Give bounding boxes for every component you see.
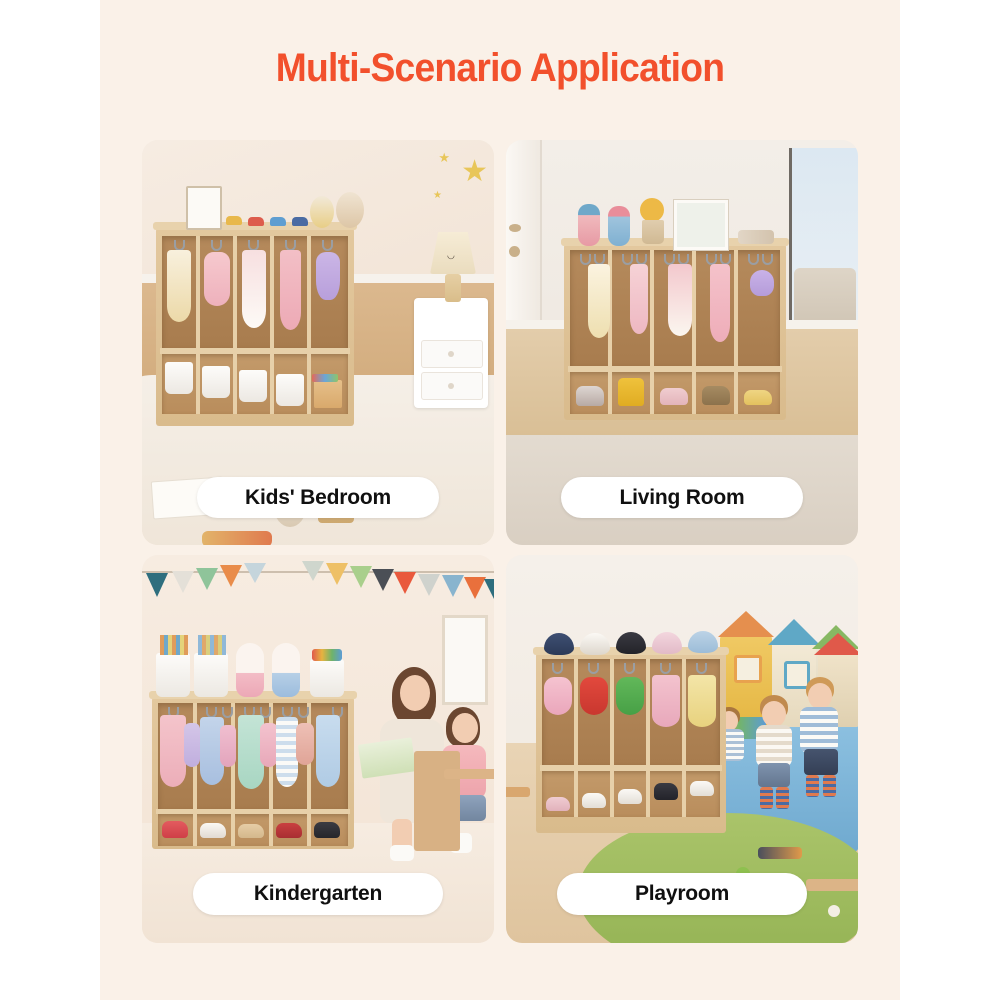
child-shirt-striped-1 bbox=[756, 725, 792, 767]
marketing-image: Multi-Scenario Application ★ ★ ★ bbox=[0, 0, 1000, 1000]
storage-bin-books-2 bbox=[194, 653, 228, 697]
doll-blue-hat bbox=[578, 204, 600, 246]
coat-locker-product bbox=[536, 653, 726, 833]
lower-divider-3 bbox=[270, 354, 274, 414]
brown-shoes bbox=[702, 386, 730, 405]
coat-hook-3 bbox=[622, 254, 633, 265]
scenario-grid: ★ ★ ★ ◡ bbox=[142, 140, 858, 943]
coat-hook-7 bbox=[298, 707, 309, 718]
pink-slippers bbox=[660, 388, 688, 405]
coat-hook-5 bbox=[696, 663, 707, 674]
tan-mary-janes bbox=[238, 824, 264, 838]
lower-divider-3 bbox=[646, 771, 650, 817]
coat-hook-3 bbox=[222, 707, 233, 718]
toy-car-red bbox=[248, 217, 264, 226]
wooden-stool bbox=[506, 787, 530, 797]
bunting-flag-4 bbox=[220, 565, 242, 587]
child-blue-stripes-standing bbox=[794, 677, 846, 807]
lower-divider-2 bbox=[610, 771, 614, 817]
lower-divider-3 bbox=[692, 372, 696, 414]
card-label-text: Kindergarten bbox=[254, 882, 382, 906]
pink-apron bbox=[630, 264, 648, 334]
wooden-child-chair bbox=[414, 751, 460, 851]
bunting-flag-13 bbox=[464, 577, 486, 599]
lamp-smiley-face: ◡ bbox=[447, 250, 455, 261]
cubby-divider-1 bbox=[196, 236, 200, 348]
green-dinosaur-backpack bbox=[616, 677, 644, 715]
child-shorts-2 bbox=[804, 749, 838, 775]
wooden-table-right bbox=[806, 879, 858, 891]
cubby-divider-4 bbox=[307, 236, 311, 348]
coat-hook-2 bbox=[588, 663, 599, 674]
pink-jacket bbox=[160, 715, 186, 787]
drawer-knob-top bbox=[448, 351, 454, 357]
bunting-flag-5 bbox=[244, 563, 266, 583]
pink-jacket bbox=[652, 675, 680, 727]
card-label-pill-playroom[interactable]: Playroom bbox=[557, 873, 807, 915]
bunting-flag-1 bbox=[146, 573, 168, 597]
black-high-tops bbox=[654, 783, 678, 800]
child-shirt-striped-2 bbox=[800, 707, 838, 753]
card-label-pill-kindergarten[interactable]: Kindergarten bbox=[193, 873, 443, 915]
white-sneakers bbox=[200, 823, 226, 838]
white-sneakers-1 bbox=[582, 793, 606, 808]
lower-divider-4 bbox=[307, 354, 311, 414]
lower-divider-3 bbox=[269, 814, 273, 846]
unicorn-backpack-pink bbox=[544, 677, 572, 715]
flower-pot bbox=[642, 220, 664, 244]
pink-backpack bbox=[204, 252, 230, 306]
pink-scarf-plush bbox=[710, 264, 730, 342]
card-label-pill-kids-bedroom[interactable]: Kids' Bedroom bbox=[197, 477, 439, 518]
framed-landscape-photo bbox=[674, 200, 728, 250]
lower-divider-1 bbox=[196, 354, 200, 414]
lower-divider-4 bbox=[307, 814, 311, 846]
child-head-1 bbox=[762, 701, 786, 727]
toy-cars-bottom bbox=[202, 531, 272, 545]
lower-divider-1 bbox=[608, 372, 612, 414]
child-shorts-1 bbox=[758, 763, 790, 787]
coat-hook-1 bbox=[552, 663, 563, 674]
lower-divider-2 bbox=[650, 372, 654, 414]
toy-cars-on-rug bbox=[758, 847, 802, 859]
small-figurines bbox=[738, 230, 774, 244]
pink-backpack-2 bbox=[220, 725, 236, 767]
lilac-backpack bbox=[184, 723, 200, 767]
toy-bin-vehicles bbox=[239, 370, 267, 402]
cubby-divider-2 bbox=[233, 236, 237, 348]
cubby-divider-3 bbox=[270, 236, 274, 348]
plush-bunny-blue bbox=[272, 643, 300, 697]
bunting-flag-8 bbox=[350, 566, 372, 588]
wooden-table bbox=[444, 769, 494, 779]
coat-locker-product bbox=[152, 697, 354, 849]
blue-cloud-towel bbox=[316, 715, 340, 787]
books-in-bin-2 bbox=[198, 635, 226, 655]
child-head-2 bbox=[808, 683, 832, 709]
pink-shoes bbox=[546, 797, 570, 811]
purple-hoodie bbox=[316, 252, 340, 300]
card-label-text: Living Room bbox=[620, 486, 745, 510]
picture-frame-on-top bbox=[186, 186, 222, 230]
purple-bucket-hat bbox=[750, 270, 774, 296]
toy-blocks-colorful bbox=[312, 374, 338, 382]
teacher-head bbox=[400, 675, 430, 711]
child-sock-striped-1 bbox=[760, 787, 773, 809]
coat-hook-5 bbox=[322, 240, 333, 251]
teacher-sock bbox=[390, 845, 414, 861]
bunting-flag-12 bbox=[442, 575, 464, 597]
white-sneakers-2 bbox=[618, 789, 642, 804]
pink-rolled-blanket bbox=[280, 250, 301, 330]
card-label-pill-living-room[interactable]: Living Room bbox=[561, 477, 803, 518]
lower-divider-1 bbox=[574, 771, 578, 817]
yellow-jacket bbox=[688, 675, 716, 727]
plush-bunny-pink bbox=[236, 643, 264, 697]
books-in-bin-1 bbox=[160, 635, 188, 655]
door-lock bbox=[509, 246, 520, 257]
yellow-sandals bbox=[744, 390, 772, 405]
lamp-base bbox=[445, 274, 461, 302]
child-head bbox=[452, 713, 478, 743]
cubby-divider-3 bbox=[692, 250, 696, 366]
bunting-flag-6 bbox=[302, 561, 324, 581]
black-sneakers bbox=[314, 822, 340, 838]
coat-hook-3 bbox=[624, 663, 635, 674]
white-pink-jacket bbox=[668, 264, 692, 336]
coat-hook-9 bbox=[748, 254, 759, 265]
lower-divider-2 bbox=[231, 814, 235, 846]
lower-divider-4 bbox=[682, 771, 686, 817]
bunting-flag-10 bbox=[394, 572, 416, 594]
plush-duck bbox=[310, 196, 334, 228]
playhouse-window-yellow bbox=[734, 655, 762, 683]
coat-hook-1 bbox=[580, 254, 591, 265]
cubby-divider-2 bbox=[650, 250, 654, 366]
cubby-divider-3 bbox=[646, 659, 650, 765]
striped-jacket bbox=[276, 717, 298, 787]
plush-bear-on-top bbox=[336, 192, 364, 228]
cubby-divider-4 bbox=[682, 659, 686, 765]
toy-bin-blocks bbox=[165, 362, 193, 394]
gold-star-decal-small: ★ bbox=[438, 150, 450, 166]
toy-bin-cars bbox=[202, 366, 230, 398]
coat-locker-product bbox=[564, 244, 786, 420]
lower-divider-1 bbox=[193, 814, 197, 846]
toy-car-blue bbox=[270, 217, 286, 226]
yellow-floral-towel bbox=[167, 250, 191, 322]
toy-car-navy bbox=[292, 217, 308, 226]
grey-sneakers bbox=[576, 386, 604, 406]
bunting-flag-7 bbox=[326, 563, 348, 585]
white-nightstand bbox=[414, 298, 488, 408]
pink-backpack-3 bbox=[296, 723, 314, 765]
blocks-in-bin bbox=[312, 649, 342, 661]
red-sneakers bbox=[162, 821, 188, 838]
playhouse-red-roof bbox=[814, 633, 858, 655]
yellow-floral-towel bbox=[588, 264, 610, 338]
child-sock-striped-2 bbox=[776, 787, 789, 809]
lower-divider-2 bbox=[233, 354, 237, 414]
child-sock-striped-4 bbox=[823, 775, 836, 797]
storage-bin-books-1 bbox=[156, 653, 190, 697]
coat-locker-product bbox=[156, 228, 354, 426]
potted-sunflower bbox=[640, 198, 664, 222]
drawer-knob-bottom bbox=[448, 383, 454, 389]
card-label-text: Playroom bbox=[635, 882, 729, 906]
doll-pink-hat bbox=[608, 206, 630, 246]
red-character-backpack bbox=[580, 677, 608, 715]
white-shoes bbox=[690, 781, 714, 796]
toy-ball-white bbox=[828, 905, 840, 917]
bunting-flag-14 bbox=[484, 579, 494, 601]
toy-bin-plush bbox=[276, 374, 304, 406]
coat-hook-4 bbox=[660, 663, 671, 674]
scenario-card-kindergarten[interactable]: Kindergarten bbox=[142, 555, 494, 943]
bunting-flag-9 bbox=[372, 569, 394, 591]
scenario-card-living-room[interactable]: Living Room bbox=[506, 140, 858, 545]
wooden-house-toy bbox=[314, 380, 342, 408]
card-label-text: Kids' Bedroom bbox=[245, 486, 391, 510]
child-sock-striped-3 bbox=[806, 775, 819, 797]
door-handle bbox=[509, 224, 521, 232]
toy-car-yellow bbox=[226, 216, 242, 225]
bunting-flag-11 bbox=[418, 574, 440, 596]
gold-star-decal-large: ★ bbox=[461, 154, 488, 189]
cubby-divider-4 bbox=[734, 250, 738, 366]
storage-bin-blocks bbox=[310, 659, 344, 697]
lower-divider-4 bbox=[734, 372, 738, 414]
scenario-card-playroom[interactable]: Playroom bbox=[506, 555, 858, 943]
playhouse-yellow-roof bbox=[718, 611, 774, 637]
bunting-flag-3 bbox=[196, 568, 218, 590]
yellow-rain-boots bbox=[618, 378, 644, 406]
coat-hook-10 bbox=[762, 254, 773, 265]
red-shoes bbox=[276, 823, 302, 838]
gold-star-decal-tiny: ★ bbox=[433, 190, 442, 201]
cubby-divider-1 bbox=[574, 659, 578, 765]
bunting-flag-2 bbox=[172, 571, 194, 593]
child-striped-shirt-walking bbox=[748, 695, 800, 815]
white-pink-towel bbox=[242, 250, 266, 328]
coat-hook-2 bbox=[211, 240, 222, 251]
cubby-divider-2 bbox=[610, 659, 614, 765]
scenario-card-kids-bedroom[interactable]: ★ ★ ★ ◡ bbox=[142, 140, 494, 545]
page-title: Multi-Scenario Application bbox=[35, 46, 965, 91]
